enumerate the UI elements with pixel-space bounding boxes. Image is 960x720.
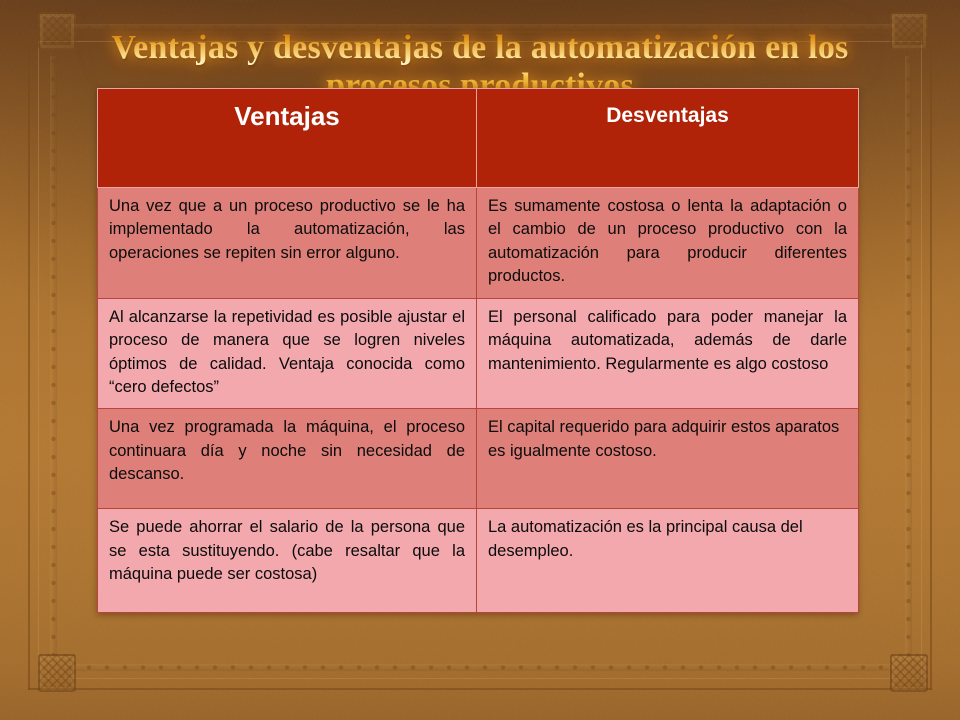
frame-line-left-outer [28, 31, 30, 690]
table-header-row: Ventajas Desventajas [98, 89, 859, 188]
frame-line-bottom-outer [28, 688, 932, 690]
table-row: Al alcanzarse la repetividad es posible … [98, 298, 859, 409]
table-row: Se puede ahorrar el salario de la person… [98, 509, 859, 613]
column-header-ventajas: Ventajas [98, 89, 477, 188]
cell-ventajas-4: Se puede ahorrar el salario de la person… [98, 509, 477, 613]
bead-rail-right [905, 56, 912, 664]
comparison-table: Ventajas Desventajas Una vez que a un pr… [97, 88, 859, 613]
table-head: Ventajas Desventajas [98, 89, 859, 188]
bead-rail-left [50, 56, 57, 664]
cell-ventajas-3: Una vez programada la máquina, el proces… [98, 409, 477, 509]
slide-canvas: Ventajas y desventajas de la automatizac… [0, 0, 960, 720]
cell-desventajas-4: La automatización es la principal causa … [477, 509, 859, 613]
table-body: Una vez que a un proceso productivo se l… [98, 188, 859, 613]
corner-ornament-bottom-right [890, 654, 928, 692]
corner-ornament-bottom-left [38, 654, 76, 692]
cell-desventajas-2: El personal calificado para poder maneja… [477, 298, 859, 409]
cell-desventajas-3: El capital requerido para adquirir estos… [477, 409, 859, 509]
comparison-table-container: Ventajas Desventajas Una vez que a un pr… [97, 88, 858, 613]
frame-line-left-inner [38, 41, 39, 679]
bead-rail-bottom [66, 664, 894, 671]
frame-line-right-outer [930, 31, 932, 690]
table-row: Una vez que a un proceso productivo se l… [98, 188, 859, 299]
cell-desventajas-1: Es sumamente costosa o lenta la adaptaci… [477, 188, 859, 299]
frame-line-right-inner [921, 41, 922, 679]
cell-ventajas-2: Al alcanzarse la repetividad es posible … [98, 298, 477, 409]
cell-ventajas-1: Una vez que a un proceso productivo se l… [98, 188, 477, 299]
table-row: Una vez programada la máquina, el proces… [98, 409, 859, 509]
column-header-desventajas: Desventajas [477, 89, 859, 188]
frame-line-bottom-inner [38, 678, 922, 679]
